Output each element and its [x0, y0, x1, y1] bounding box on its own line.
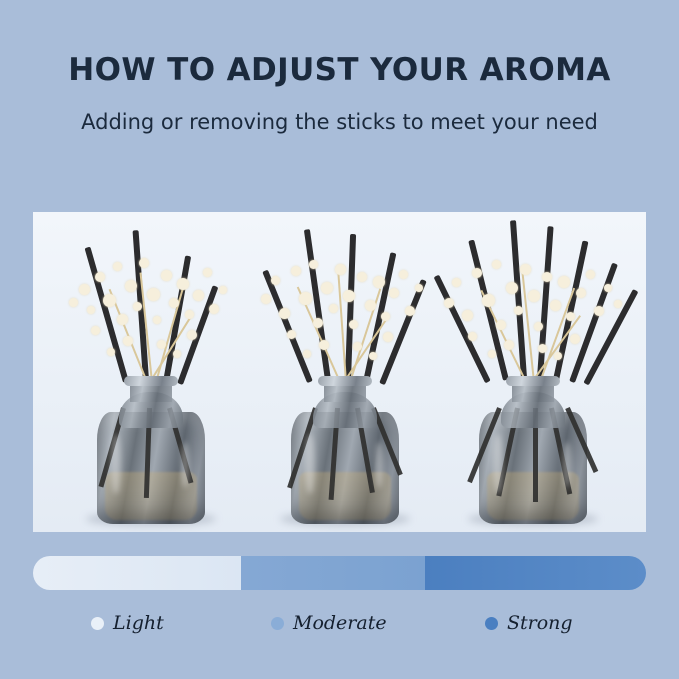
legend-dot-light [91, 617, 104, 630]
legend: Light Moderate Strong [33, 612, 646, 642]
product-photo [33, 212, 646, 532]
scale-segment-moderate [241, 556, 425, 590]
legend-label-moderate: Moderate [293, 612, 387, 634]
diffuser-moderate [245, 212, 445, 532]
legend-dot-moderate [271, 617, 284, 630]
legend-item-moderate: Moderate [271, 612, 387, 634]
diffuser-bottle [291, 374, 399, 524]
legend-label-light: Light [113, 612, 164, 634]
legend-item-strong: Strong [485, 612, 573, 634]
bottle-lip [124, 376, 178, 386]
legend-dot-strong [485, 617, 498, 630]
scale-segment-strong [425, 556, 646, 590]
diffuser-bottle [479, 374, 587, 524]
diffuser-strong [433, 212, 633, 532]
diffuser-bottle [97, 374, 205, 524]
scale-segment-light [33, 556, 241, 590]
intensity-scale-bar [33, 556, 646, 590]
page-title: HOW TO ADJUST YOUR AROMA [0, 52, 679, 88]
bottle-body [479, 412, 587, 524]
poster: HOW TO ADJUST YOUR AROMA Adding or remov… [0, 0, 679, 679]
bottle-lip [318, 376, 372, 386]
legend-item-light: Light [91, 612, 164, 634]
page-subtitle: Adding or removing the sticks to meet yo… [0, 110, 679, 134]
diffuser-light [51, 212, 251, 532]
baby-breath-cluster [255, 254, 435, 364]
legend-label-strong: Strong [507, 612, 573, 634]
baby-breath-cluster [438, 252, 628, 364]
bottle-lip [506, 376, 560, 386]
bottle-body [291, 412, 399, 524]
bottle-body [97, 412, 205, 524]
baby-breath-cluster [61, 254, 241, 364]
